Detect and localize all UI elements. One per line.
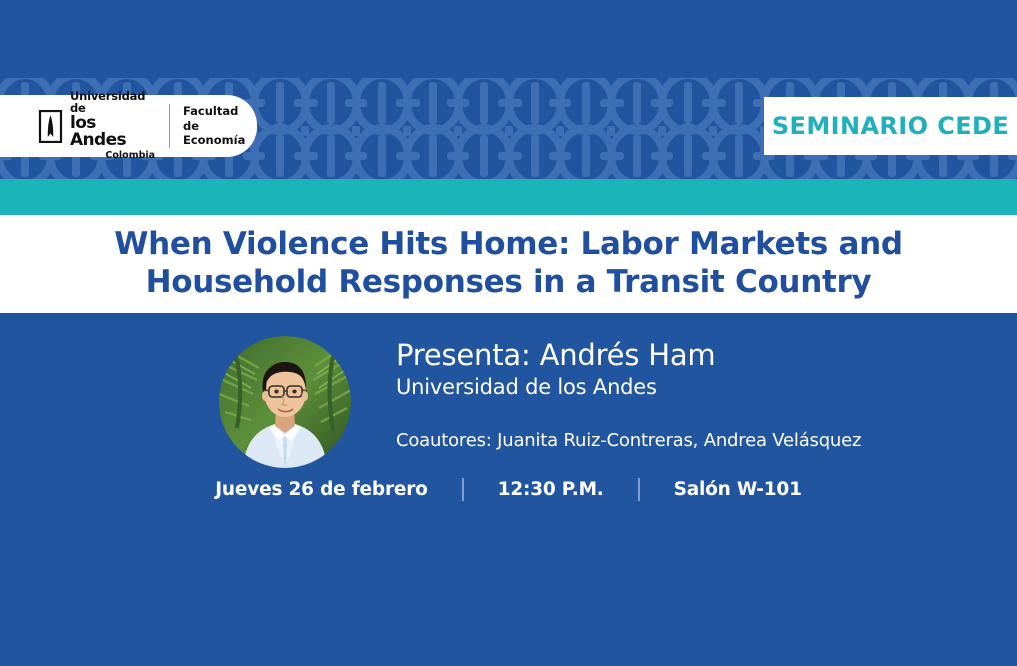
seminario-cede-badge: SEMINARIO CEDE: [764, 97, 1017, 155]
presenter-name: Presenta: Andrés Ham: [396, 340, 715, 370]
page-title: When Violence Hits Home: Labor Markets a…: [74, 226, 943, 302]
logo-university-line3: Colombia: [70, 151, 155, 161]
logo-university-line2: los Andes: [70, 115, 155, 149]
title-line-1: When Violence Hits Home: Labor Markets a…: [114, 226, 903, 264]
logo-divider: [169, 104, 170, 148]
event-date: Jueves 26 de febrero: [215, 479, 427, 500]
avatar: [219, 336, 351, 468]
detail-separator-2: [638, 478, 640, 501]
body-area: Presenta: Andrés Ham Universidad de los …: [0, 313, 1017, 666]
detail-separator-1: [462, 478, 464, 501]
uniandes-shield-icon: [38, 110, 63, 143]
presenter-affiliation: Universidad de los Andes: [396, 375, 715, 400]
coauthors: Coautores: Juanita Ruiz-Contreras, Andre…: [396, 430, 861, 451]
header-banner: Universidad de los Andes Colombia Facult…: [0, 0, 1017, 179]
teal-accent-bar: [0, 179, 1017, 215]
faculty-wordmark: Facultad de Economía: [183, 104, 257, 147]
title-band: When Violence Hits Home: Labor Markets a…: [0, 215, 1017, 313]
logo-faculty-line2: de Economía: [183, 119, 257, 148]
logo-university-line1: Universidad de: [70, 91, 155, 114]
event-room: Salón W-101: [674, 479, 802, 500]
event-details: Jueves 26 de febrero 12:30 P.M. Salón W-…: [0, 478, 1017, 501]
event-time: 12:30 P.M.: [498, 479, 604, 500]
presenter-block: Presenta: Andrés Ham Universidad de los …: [396, 340, 715, 401]
logo-faculty-line1: Facultad: [183, 104, 257, 118]
title-line-2: Household Responses in a Transit Country: [114, 264, 903, 302]
uniandes-logo-box: Universidad de los Andes Colombia Facult…: [0, 95, 257, 157]
uniandes-wordmark: Universidad de los Andes Colombia: [70, 91, 155, 161]
seminario-cede-label: SEMINARIO CEDE: [772, 112, 1009, 140]
